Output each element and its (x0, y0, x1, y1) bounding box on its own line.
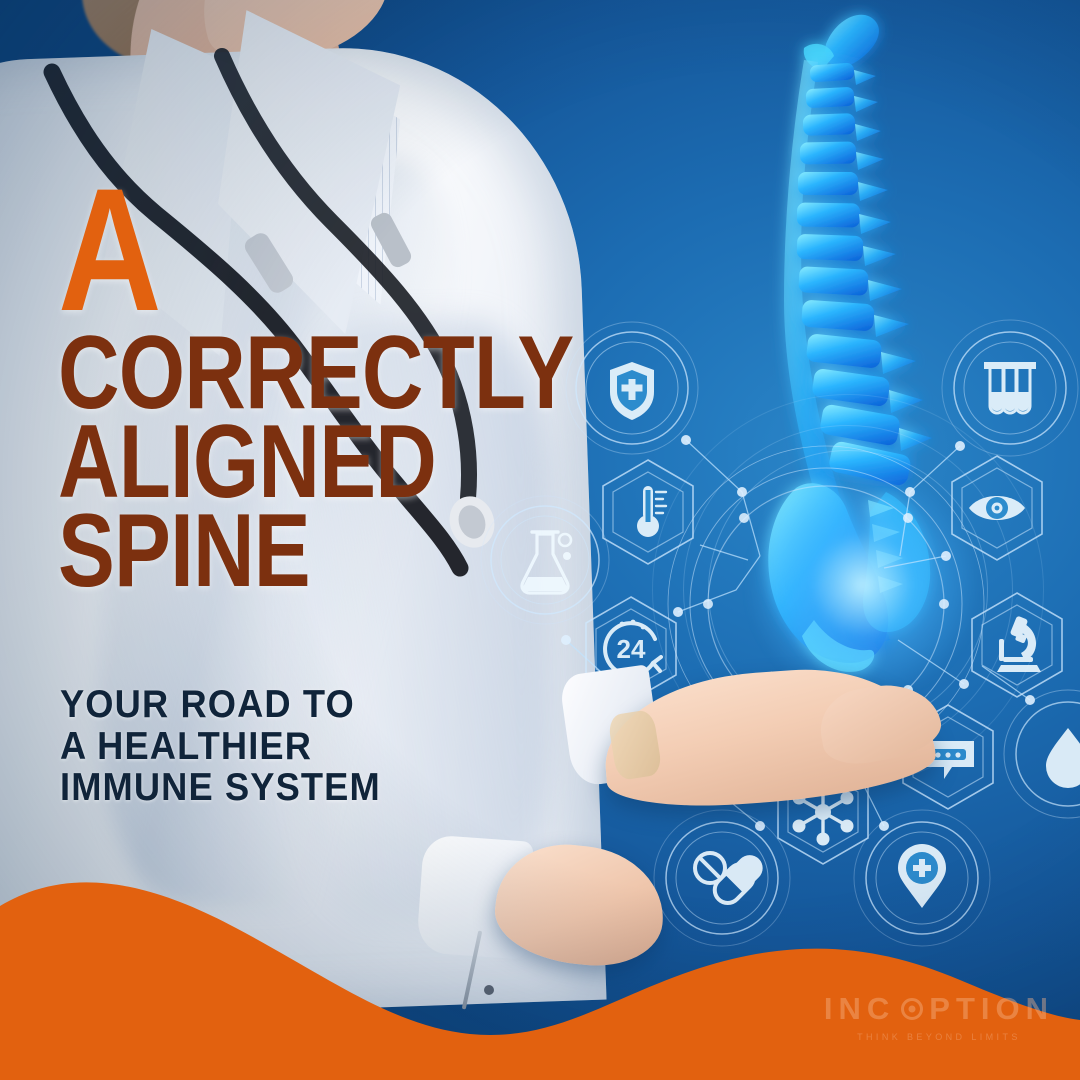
headline-block: A CORRECTLY ALIGNED SPINE (58, 176, 528, 597)
logo-text-part1: INC (824, 991, 895, 1027)
brand-logo[interactable]: INC PTION THINK BEYOND LIMITS (824, 991, 1054, 1042)
subheadline-line-3: IMMUNE SYSTEM (60, 767, 469, 809)
logo-o-icon (901, 998, 923, 1020)
headline-line-1: A (58, 176, 443, 327)
logo-wordmark: INC PTION (824, 991, 1054, 1027)
subheadline-block: YOUR ROAD TO A HEALTHIER IMMUNE SYSTEM (60, 684, 469, 809)
subheadline-line-1: YOUR ROAD TO (60, 684, 469, 726)
subheadline-line-2: A HEALTHIER (60, 726, 469, 768)
logo-tagline: THINK BEYOND LIMITS (824, 1032, 1054, 1042)
headline-line-4: SPINE (58, 507, 443, 596)
logo-text-part2: PTION (929, 991, 1054, 1027)
poster-canvas: 24 (0, 0, 1080, 1080)
